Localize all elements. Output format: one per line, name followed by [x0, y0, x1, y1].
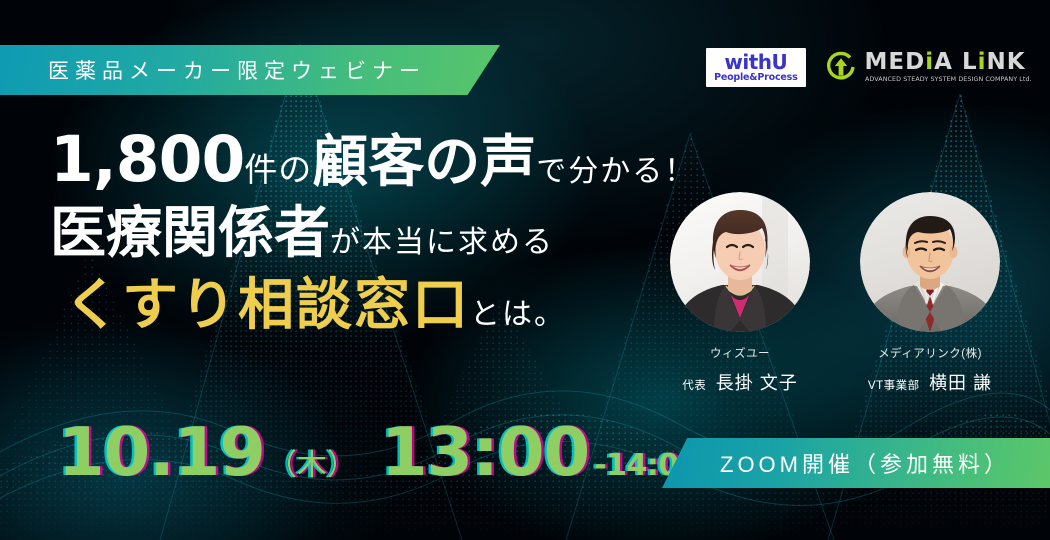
schedule-datetime: 10.19 （木） 13:00 -14:00	[58, 413, 699, 491]
medialink-logo-tagline: ADVANCED STEADY SYSTEM DESIGN COMPANY Lt…	[865, 77, 1032, 83]
speaker-1-avatar	[670, 192, 810, 332]
speaker-2: メディアリンク(株) VT事業部 横田 謙	[856, 192, 1004, 395]
medialink-name-part1: MED	[865, 49, 926, 75]
speaker-2-avatar	[860, 192, 1000, 332]
portrait-male-icon	[860, 192, 1000, 332]
speaker-1: ウィズユー 代表 長掛 文子	[666, 192, 814, 395]
headline-count: 1,800	[50, 128, 244, 191]
headline-emphasis-2: 医療関係者	[50, 205, 330, 261]
medialink-name-part3: NK	[987, 49, 1026, 75]
logo-group: withU People&Process MEDiA LiNK ADVANCED…	[706, 48, 1028, 87]
speaker-1-title: 代表	[682, 380, 706, 392]
speaker-1-name-row: 代表 長掛 文子	[666, 369, 814, 395]
medialink-logo-name: MEDiA LiNK	[865, 51, 1028, 74]
arrow-up-circle-icon	[824, 50, 858, 84]
headline-highlight: くすり相談窓口	[64, 277, 470, 333]
cta-zoom-label: ZOOM開催（参加無料）	[702, 447, 1010, 479]
portrait-female-icon	[670, 192, 810, 332]
headline-count-unit: 件の	[244, 153, 312, 186]
speaker-1-name: 長掛 文子	[716, 373, 798, 393]
headline-tail-3: とは。	[470, 300, 566, 330]
speaker-2-title: VT事業部	[868, 380, 920, 392]
schedule-day-of-week: （木）	[267, 440, 357, 484]
speaker-list: ウィズユー 代表 長掛 文子	[666, 192, 1004, 395]
medialink-name-i1: i	[925, 49, 934, 75]
audience-ribbon: 医薬品メーカー限定ウェビナー	[0, 45, 500, 95]
withu-logo-tagline: People&Process	[714, 73, 797, 83]
speaker-2-organization: メディアリンク(株)	[856, 345, 1004, 361]
webinar-banner: 医薬品メーカー限定ウェビナー withU People&Process MEDi…	[0, 0, 1050, 540]
speaker-2-name-row: VT事業部 横田 謙	[856, 369, 1004, 395]
schedule-start-time: 13:00	[381, 413, 589, 491]
audience-ribbon-label: 医薬品メーカー限定ウェビナー	[48, 55, 426, 85]
headline-tail-1: で分かる！	[536, 157, 696, 187]
headline-emphasis-1: 顧客の声	[312, 134, 536, 190]
medialink-name-part2: A L	[934, 49, 977, 75]
headline-line-3: くすり相談窓口 とは。	[64, 277, 690, 333]
cta-zoom-bar: ZOOM開催（参加無料）	[662, 438, 1050, 488]
speaker-1-organization: ウィズユー	[666, 345, 814, 361]
schedule-date: 10.19	[58, 413, 265, 491]
medialink-logo: MEDiA LiNK ADVANCED STEADY SYSTEM DESIGN…	[824, 50, 1028, 84]
withu-logo-name: withU	[714, 52, 797, 72]
speaker-2-name: 横田 謙	[929, 373, 992, 393]
medialink-name-i2: i	[978, 49, 987, 75]
headline-line-2: 医療関係者 が本当に求める	[50, 205, 690, 261]
headline-line-1: 1,800 件の 顧客の声 で分かる！	[50, 128, 690, 191]
headline: 1,800 件の 顧客の声 で分かる！ 医療関係者 が本当に求める くすり相談窓…	[50, 128, 690, 333]
withu-logo: withU People&Process	[706, 48, 805, 87]
headline-tail-2: が本当に求める	[330, 228, 554, 258]
